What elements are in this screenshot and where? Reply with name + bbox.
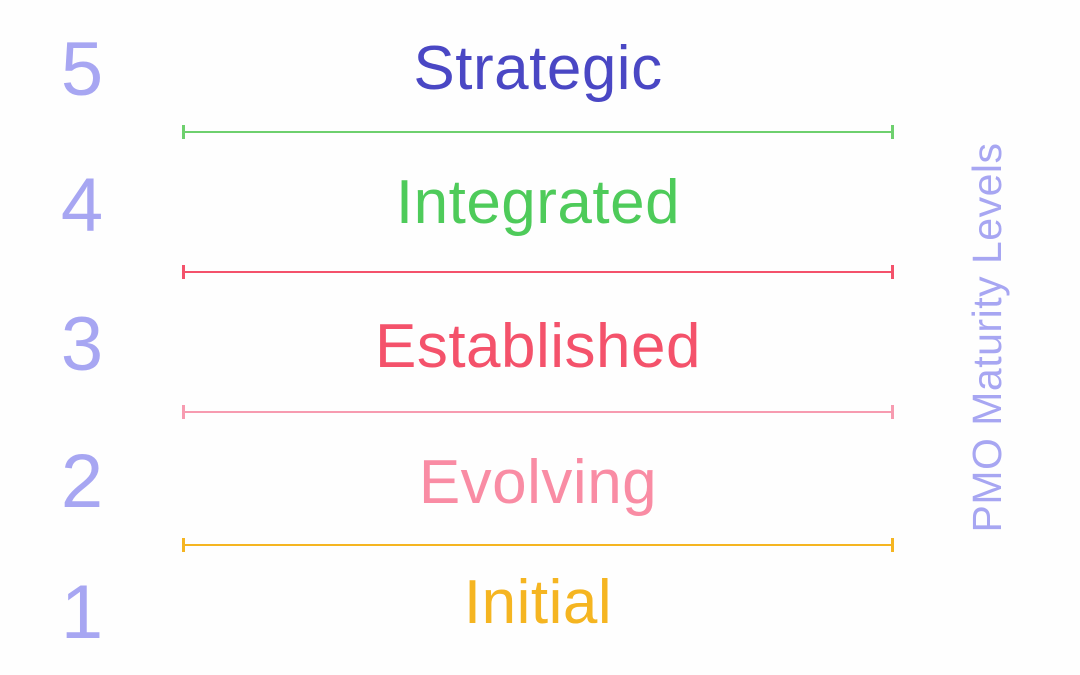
maturity-level-diagram: 5 Strategic 4 Integrated 3 Established 2…	[0, 0, 1080, 675]
divider-right-cap-icon	[891, 125, 894, 139]
axis-title-label: PMO Maturity Levels	[964, 143, 1011, 533]
divider-bar	[182, 544, 894, 546]
level-number-2: 2	[42, 444, 122, 520]
divider-between-5-and-4	[182, 125, 894, 139]
divider-bar	[182, 411, 894, 413]
stage-label-initial: Initial	[182, 572, 894, 634]
divider-right-cap-icon	[891, 265, 894, 279]
divider-between-2-and-1	[182, 538, 894, 552]
level-number-1: 1	[42, 575, 122, 651]
divider-between-3-and-2	[182, 405, 894, 419]
stage-label-strategic: Strategic	[182, 38, 894, 100]
level-number-3: 3	[42, 307, 122, 383]
stage-label-established: Established	[182, 316, 894, 378]
stage-label-integrated: Integrated	[182, 172, 894, 234]
stage-label-evolving: Evolving	[182, 452, 894, 514]
axis-title: PMO Maturity Levels	[944, 0, 1030, 675]
level-number-4: 4	[42, 168, 122, 244]
level-number-5: 5	[42, 32, 122, 108]
divider-between-4-and-3	[182, 265, 894, 279]
divider-bar	[182, 271, 894, 273]
divider-right-cap-icon	[891, 405, 894, 419]
divider-right-cap-icon	[891, 538, 894, 552]
divider-bar	[182, 131, 894, 133]
